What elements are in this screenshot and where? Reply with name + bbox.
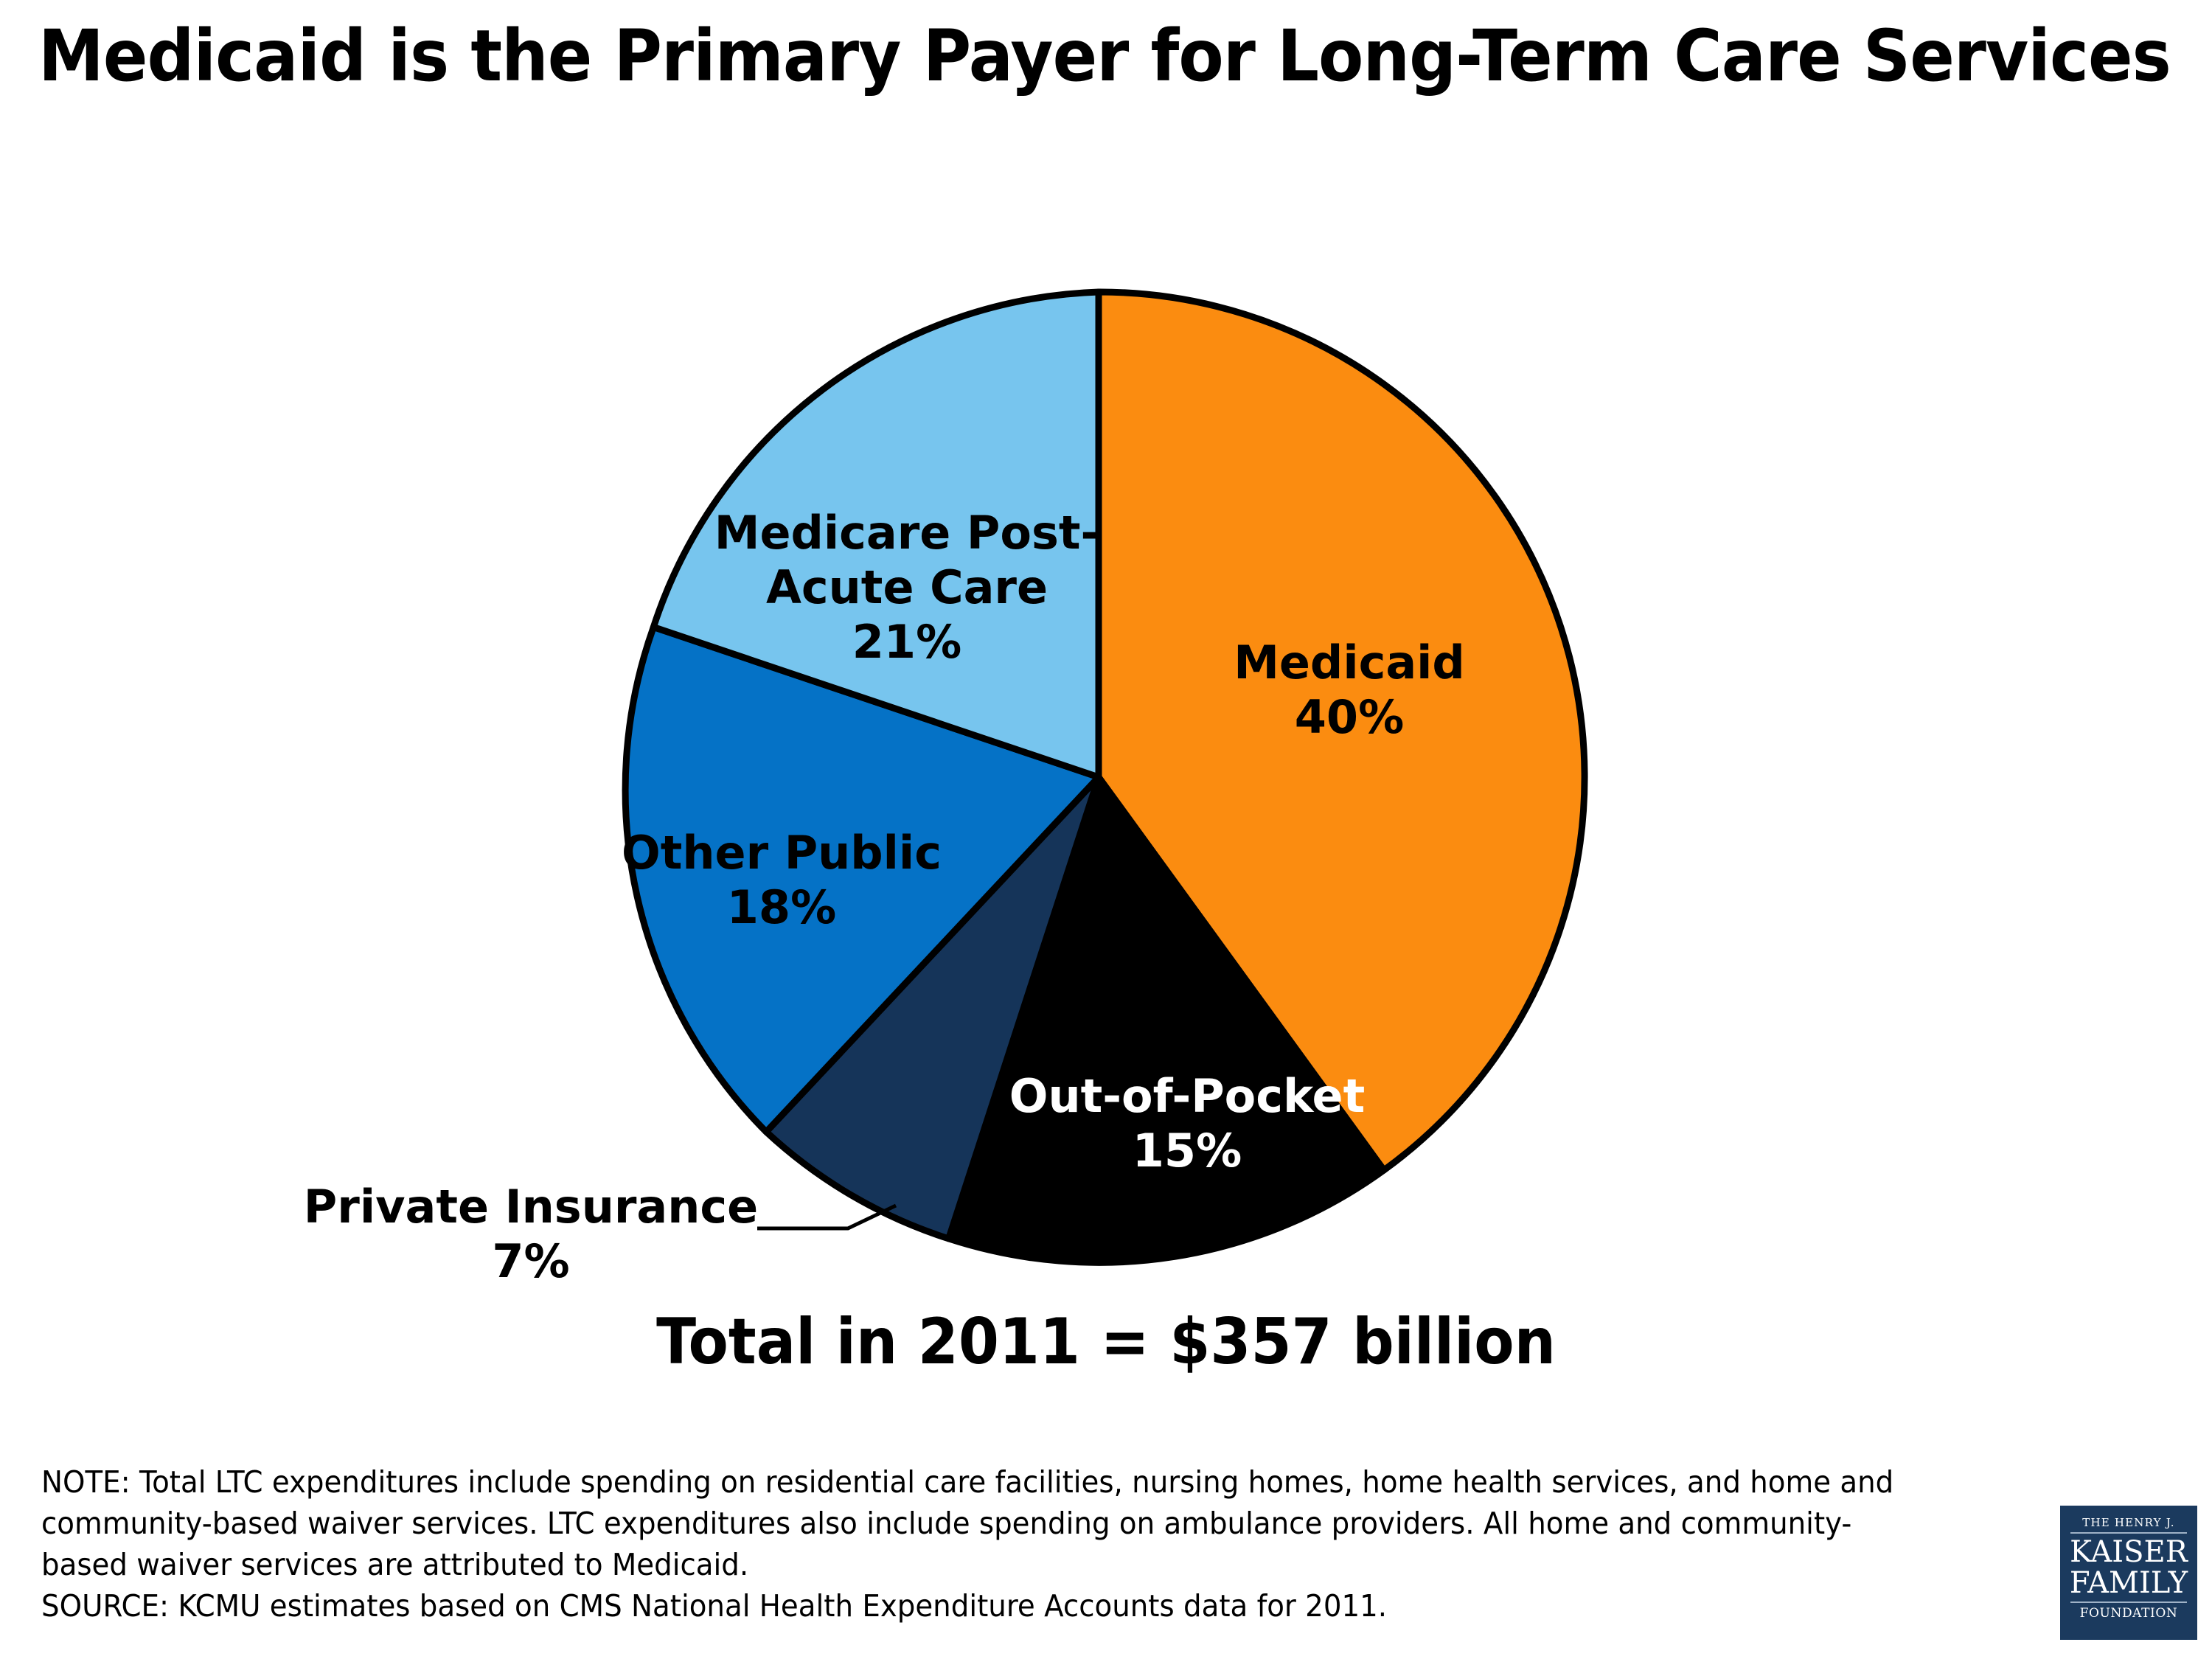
logo-divider-bottom — [2070, 1601, 2187, 1603]
footnote-source: SOURCE: KCMU estimates based on CMS Nati… — [41, 1585, 1923, 1627]
pie-chart-svg — [0, 0, 2212, 1438]
logo-the-henry-j: THE HENRY J. — [2067, 1516, 2190, 1529]
total-caption: Total in 2011 = $357 billion — [88, 1305, 2124, 1379]
footnotes: NOTE: Total LTC expenditures include spe… — [41, 1461, 1923, 1627]
logo-kaiser: KAISER — [2067, 1537, 2190, 1568]
logo-foundation: FOUNDATION — [2067, 1606, 2190, 1621]
logo-family: FAMILY — [2067, 1568, 2190, 1599]
pie-chart: Medicaid 40% Medicare Post- Acute Care 2… — [0, 0, 2212, 1438]
kaiser-family-foundation-logo: THE HENRY J. KAISER FAMILY FOUNDATION — [2060, 1506, 2197, 1640]
logo-divider-top — [2070, 1532, 2187, 1534]
footnote-note: NOTE: Total LTC expenditures include spe… — [41, 1461, 1923, 1585]
